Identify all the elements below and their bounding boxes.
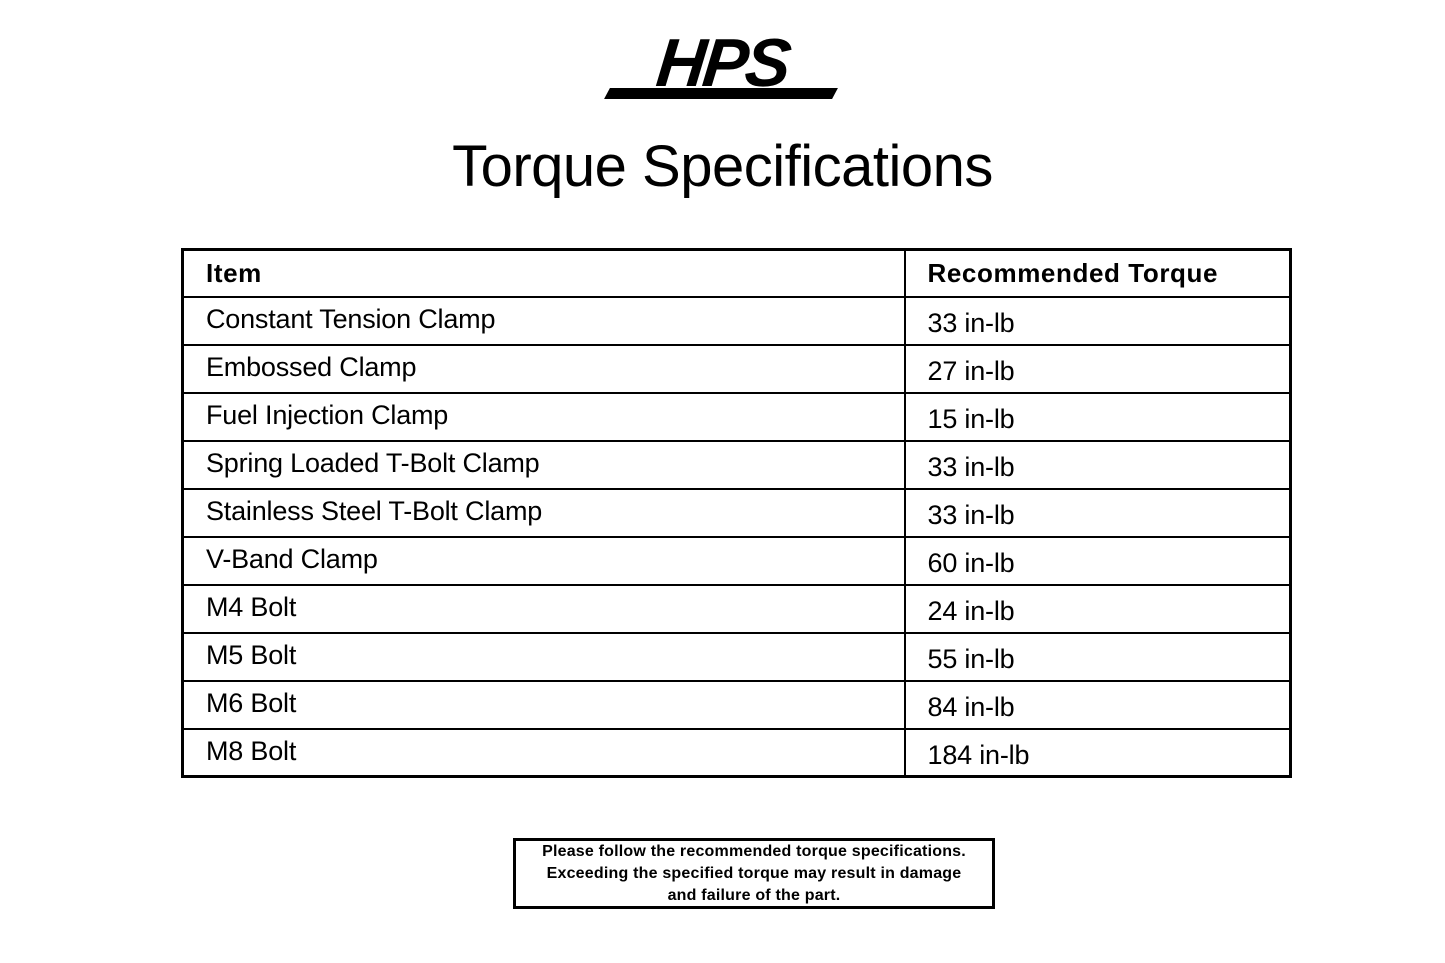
cell-torque: 84 in-lb: [905, 681, 1291, 729]
hps-logo-underline-bar: [604, 88, 838, 99]
cell-torque: 33 in-lb: [905, 297, 1291, 345]
cell-item: Constant Tension Clamp: [183, 297, 905, 345]
footnote-line: Exceeding the specified torque may resul…: [547, 863, 962, 885]
torque-specifications-table: Item Recommended Torque Constant Tension…: [181, 248, 1292, 778]
footnote-warning-box: Please follow the recommended torque spe…: [513, 838, 995, 909]
table-header-row: Item Recommended Torque: [183, 250, 1291, 297]
cell-torque: 60 in-lb: [905, 537, 1291, 585]
cell-torque: 27 in-lb: [905, 345, 1291, 393]
table-body: Constant Tension Clamp 33 in-lb Embossed…: [183, 297, 1291, 777]
table-row: M4 Bolt 24 in-lb: [183, 585, 1291, 633]
table-row: Embossed Clamp 27 in-lb: [183, 345, 1291, 393]
cell-torque: 33 in-lb: [905, 489, 1291, 537]
cell-item: M4 Bolt: [183, 585, 905, 633]
cell-item: Fuel Injection Clamp: [183, 393, 905, 441]
cell-item: V-Band Clamp: [183, 537, 905, 585]
cell-item: Embossed Clamp: [183, 345, 905, 393]
column-header-item: Item: [183, 250, 905, 297]
cell-item: M8 Bolt: [183, 729, 905, 777]
cell-torque: 55 in-lb: [905, 633, 1291, 681]
table-row: M8 Bolt 184 in-lb: [183, 729, 1291, 777]
footnote-line: and failure of the part.: [668, 885, 841, 907]
table-row: Spring Loaded T-Bolt Clamp 33 in-lb: [183, 441, 1291, 489]
brand-logo: HPS: [0, 30, 1445, 115]
table-row: M5 Bolt 55 in-lb: [183, 633, 1291, 681]
cell-torque: 33 in-lb: [905, 441, 1291, 489]
table-row: M6 Bolt 84 in-lb: [183, 681, 1291, 729]
cell-torque: 15 in-lb: [905, 393, 1291, 441]
cell-item: Stainless Steel T-Bolt Clamp: [183, 489, 905, 537]
table-row: Constant Tension Clamp 33 in-lb: [183, 297, 1291, 345]
page-title: Torque Specifications: [0, 132, 1445, 202]
hps-wordmark-logo: HPS: [600, 30, 845, 110]
cell-torque: 24 in-lb: [905, 585, 1291, 633]
table-row: Fuel Injection Clamp 15 in-lb: [183, 393, 1291, 441]
cell-torque: 184 in-lb: [905, 729, 1291, 777]
cell-item: Spring Loaded T-Bolt Clamp: [183, 441, 905, 489]
table-row: V-Band Clamp 60 in-lb: [183, 537, 1291, 585]
footnote-line: Please follow the recommended torque spe…: [542, 841, 966, 863]
table-row: Stainless Steel T-Bolt Clamp 33 in-lb: [183, 489, 1291, 537]
cell-item: M6 Bolt: [183, 681, 905, 729]
cell-item: M5 Bolt: [183, 633, 905, 681]
column-header-recommended-torque: Recommended Torque: [905, 250, 1291, 297]
